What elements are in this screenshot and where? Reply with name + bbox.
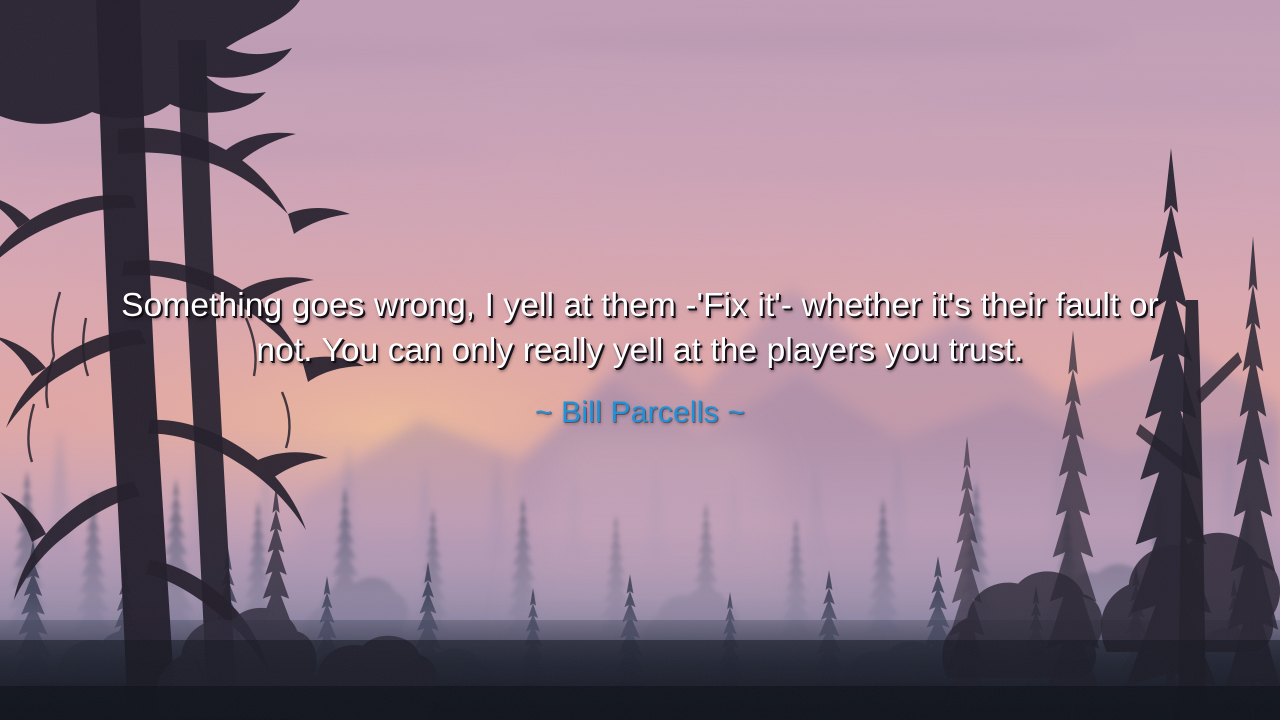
background-scene-misty-forest <box>0 0 1280 720</box>
film-grain <box>0 0 1280 720</box>
quote-wallpaper: Something goes wrong, I yell at them -'F… <box>0 0 1280 720</box>
